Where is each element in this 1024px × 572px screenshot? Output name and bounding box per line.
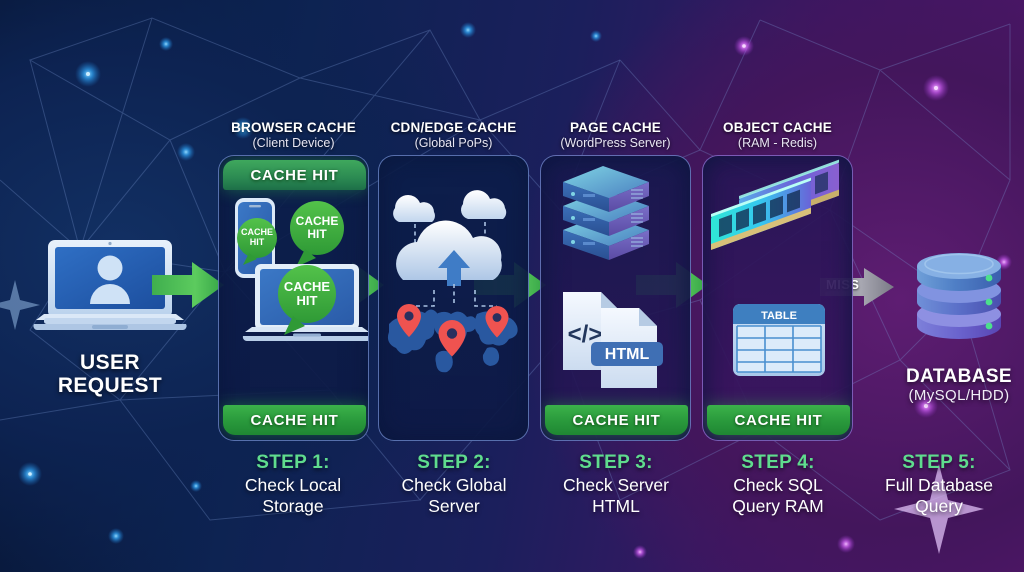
panel-browser-cache-sub: (Client Device)	[218, 136, 369, 150]
user-label-line1: USER	[20, 351, 200, 374]
step-5-line1: Full Database	[854, 475, 1024, 496]
panel-page-cache-title: PAGE CACHE	[540, 120, 691, 135]
cache-hit-band-bottom-object: CACHE HIT	[707, 405, 850, 435]
cache-hit-label: CACHE HIT	[735, 412, 823, 429]
panel-page-cache-sub: (WordPress Server)	[540, 136, 691, 150]
panel-page-cache-header: PAGE CACHE (WordPress Server)	[540, 108, 691, 150]
panel-browser-cache[interactable]: BROWSER CACHE (Client Device) CACHE HIT	[218, 108, 369, 441]
panel-object-cache-header: OBJECT CACHE (RAM - Redis)	[702, 108, 853, 150]
svg-text:HTML: HTML	[605, 346, 650, 363]
step-4-line1: Check SQL	[693, 475, 863, 496]
arrow-user-to-browser	[152, 262, 224, 308]
cdn-illustration	[379, 156, 529, 441]
database-label: DATABASE (MySQL/HDD)	[884, 367, 1024, 404]
step-caption-5: STEP 5: Full Database Query	[854, 452, 1024, 516]
panel-cdn-edge-cache-header: CDN/EDGE CACHE (Global PoPs)	[378, 108, 529, 150]
speech-bubble-icon: CACHE HIT	[290, 201, 344, 267]
panel-object-cache-sub: (RAM - Redis)	[702, 136, 853, 150]
browser-cache-illustration: CACHE HIT CACHE HIT	[219, 156, 369, 441]
step-2-description: Check Global Server	[369, 475, 539, 516]
infographic-canvas: USER REQUEST	[0, 0, 1024, 572]
step-5-description: Full Database Query	[854, 475, 1024, 516]
panel-browser-cache-header: BROWSER CACHE (Client Device)	[218, 108, 369, 150]
database-endpoint: DATABASE (MySQL/HDD)	[884, 236, 1024, 404]
page-cache-illustration: </> HTML	[541, 156, 691, 441]
user-request-label: USER REQUEST	[20, 351, 200, 397]
panel-object-cache-body: TABLE CACHE HIT	[702, 155, 853, 441]
object-cache-illustration: TABLE	[703, 156, 853, 441]
panel-cdn-edge-cache-title: CDN/EDGE CACHE	[378, 120, 529, 135]
step-3-line1: Check Server	[531, 475, 701, 496]
step-2-line2: Server	[369, 496, 539, 517]
step-3-number: STEP 3:	[531, 452, 701, 474]
step-1-line2: Storage	[208, 496, 378, 517]
step-1-line1: Check Local	[208, 475, 378, 496]
database-sublabel: (MySQL/HDD)	[884, 388, 1024, 405]
panel-browser-cache-title: BROWSER CACHE	[218, 120, 369, 135]
user-request-endpoint: USER REQUEST	[20, 232, 200, 397]
step-caption-2: STEP 2: Check Global Server	[369, 452, 539, 516]
panel-cdn-edge-cache-sub: (Global PoPs)	[378, 136, 529, 150]
step-5-number: STEP 5:	[854, 452, 1024, 474]
step-3-description: Check Server HTML	[531, 475, 701, 516]
cache-hit-label: CACHE HIT	[573, 412, 661, 429]
step-1-description: Check Local Storage	[208, 475, 378, 516]
database-label-text: DATABASE	[884, 367, 1024, 388]
svg-text:CACHE: CACHE	[284, 279, 331, 294]
step-1-number: STEP 1:	[208, 452, 378, 474]
step-4-line2: Query RAM	[693, 496, 863, 517]
database-cylinder-icon	[903, 236, 1015, 354]
step-5-line2: Query	[854, 496, 1024, 517]
step-2-line1: Check Global	[369, 475, 539, 496]
html-file-icon: HTML	[591, 308, 663, 388]
step-caption-3: STEP 3: Check Server HTML	[531, 452, 701, 516]
step-4-number: STEP 4:	[693, 452, 863, 474]
svg-text:CACHE: CACHE	[296, 214, 339, 228]
svg-text:CACHE: CACHE	[241, 227, 273, 237]
step-3-line2: HTML	[531, 496, 701, 517]
svg-text:TABLE: TABLE	[761, 310, 797, 322]
svg-text:HIT: HIT	[297, 293, 318, 308]
user-label-line2: REQUEST	[20, 374, 200, 397]
server-stack-icon	[563, 166, 649, 260]
cache-hit-band-bottom-browser: CACHE HIT	[223, 405, 366, 435]
cloud-icon-right	[461, 190, 506, 219]
cache-hit-label: CACHE HIT	[251, 412, 339, 429]
svg-text:HIT: HIT	[307, 227, 327, 241]
step-2-number: STEP 2:	[369, 452, 539, 474]
cdn-connectors-bottom	[409, 284, 497, 306]
cloud-upload-icon	[396, 221, 502, 286]
data-table-icon: TABLE	[733, 304, 825, 376]
panel-cdn-edge-cache-body	[378, 155, 529, 441]
panel-cdn-edge-cache[interactable]: CDN/EDGE CACHE (Global PoPs)	[378, 108, 529, 441]
step-caption-1: STEP 1: Check Local Storage	[208, 452, 378, 516]
panel-browser-cache-body: CACHE HIT CACHE HIT	[218, 155, 369, 441]
svg-text:HIT: HIT	[250, 237, 265, 247]
cache-hit-band-bottom-page: CACHE HIT	[545, 405, 688, 435]
step-4-description: Check SQL Query RAM	[693, 475, 863, 516]
panel-page-cache[interactable]: PAGE CACHE (WordPress Server)	[540, 108, 691, 441]
panel-object-cache[interactable]: OBJECT CACHE (RAM - Redis)	[702, 108, 853, 441]
step-caption-4: STEP 4: Check SQL Query RAM	[693, 452, 863, 516]
panel-object-cache-title: OBJECT CACHE	[702, 120, 853, 135]
cloud-icon-left	[393, 195, 435, 222]
panel-page-cache-body: </> HTML CACHE HIT	[540, 155, 691, 441]
